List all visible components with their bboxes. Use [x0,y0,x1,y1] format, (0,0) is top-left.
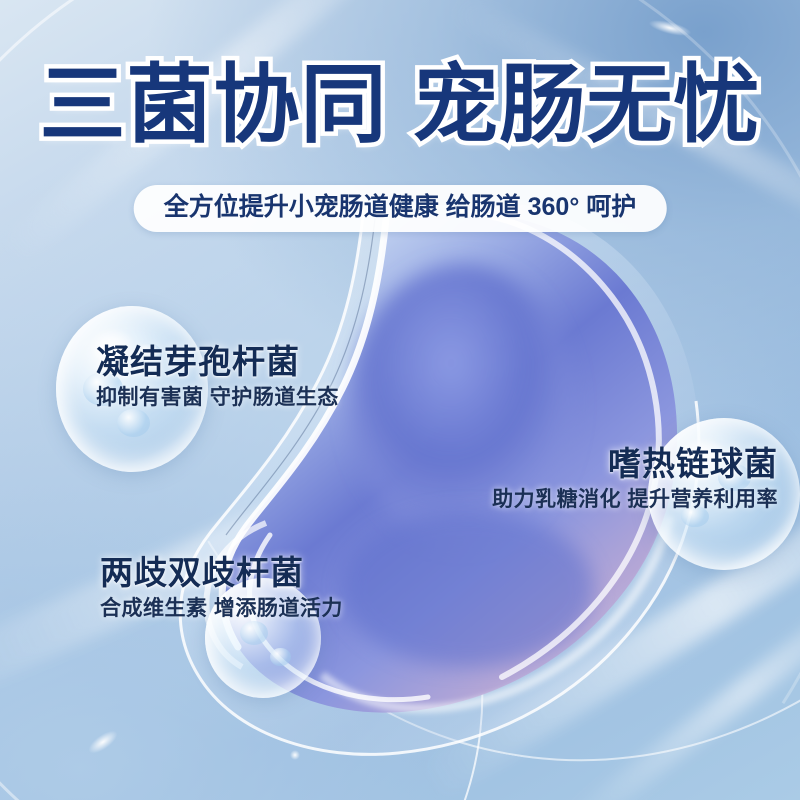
feature-description: 合成维生素 增添肠道活力 [100,597,343,621]
feature-callout-thermophilus: 嗜热链球菌 助力乳糖消化 提升营养利用率 [404,446,778,512]
subtitle-badge: 全方位提升小宠肠道健康 给肠道 360° 呵护 [134,185,667,232]
feature-callout-coagulans: 凝结芽孢杆菌 抑制有害菌 守护肠道生态 [96,344,339,410]
bubble-inner-dot [117,409,150,437]
feature-title: 凝结芽孢杆菌 [96,344,339,381]
poster-canvas: 三菌协同 宠肠无忧 全方位提升小宠肠道健康 给肠道 360° 呵护 凝结芽孢杆菌… [0,0,800,800]
feature-callout-bifidum: 两歧双歧杆菌 合成维生素 增添肠道活力 [100,555,343,621]
feature-description: 助力乳糖消化 提升营养利用率 [404,488,778,512]
feature-title: 嗜热链球菌 [404,446,778,483]
sparkle-1 [85,727,121,758]
page-title: 三菌协同 宠肠无忧 [0,62,800,148]
bubble-inner-dot [270,648,291,666]
feature-title: 两歧双歧杆菌 [100,555,343,592]
bubble-inner-dot [240,621,268,645]
feature-description: 抑制有害菌 守护肠道生态 [96,386,339,410]
sparkle-2 [647,17,693,39]
